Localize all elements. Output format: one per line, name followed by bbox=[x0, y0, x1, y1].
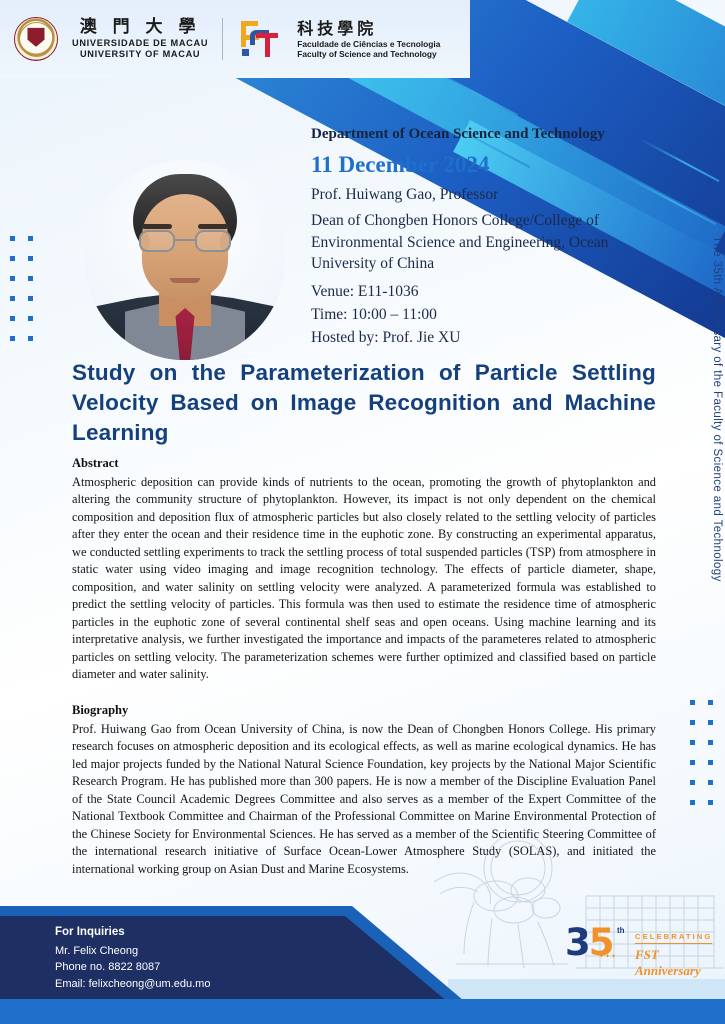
fst-monogram-icon bbox=[237, 18, 283, 60]
event-host: Hosted by: Prof. Jie XU bbox=[311, 327, 661, 348]
university-crest-icon bbox=[14, 17, 58, 61]
anniv-ordinal-suffix: th bbox=[617, 926, 625, 935]
anniversary-logo: 35 th ✦✦✦ CELEBRATING FST Anniversary bbox=[565, 926, 713, 968]
fst-name-portuguese: Faculdade de Ciências e Tecnologia bbox=[297, 39, 440, 50]
department-name: Department of Ocean Science and Technolo… bbox=[311, 126, 661, 143]
faculty-logo: 科技學院 Faculdade de Ciências e Tecnologia … bbox=[297, 19, 440, 60]
speaker-name: Prof. Huiwang Gao, Professor bbox=[311, 184, 661, 205]
event-venue: Venue: E11-1036 bbox=[311, 281, 661, 302]
speaker-portrait bbox=[85, 160, 285, 360]
um-name-chinese: 澳 門 大 學 bbox=[72, 18, 208, 38]
logo-divider bbox=[222, 18, 223, 60]
biography-text: Prof. Huiwang Gao from Ocean University … bbox=[72, 721, 656, 878]
talk-title: Study on the Parameterization of Particl… bbox=[72, 358, 656, 448]
decorative-dots-left bbox=[10, 236, 46, 341]
biography-heading: Biography bbox=[72, 703, 656, 718]
fst-name-chinese: 科技學院 bbox=[297, 19, 440, 39]
anniv-celebrating-label: CELEBRATING bbox=[635, 932, 712, 944]
university-of-macau-logo: 澳 門 大 學 UNIVERSIDADE DE MACAU UNIVERSITY… bbox=[72, 18, 208, 59]
event-time: Time: 10:00 – 11:00 bbox=[311, 304, 661, 325]
header-logos: 澳 門 大 學 UNIVERSIDADE DE MACAU UNIVERSITY… bbox=[0, 0, 470, 78]
biography-section: Biography Prof. Huiwang Gao from Ocean U… bbox=[72, 703, 656, 878]
abstract-text: Atmospheric deposition can provide kinds… bbox=[72, 474, 656, 684]
inquiries-email[interactable]: Email: felixcheong@um.edu.mo bbox=[55, 976, 210, 993]
inquiries-heading: For Inquiries bbox=[55, 924, 210, 941]
anniv-stars-icon: ✦✦✦ bbox=[599, 953, 617, 960]
um-name-portuguese: UNIVERSIDADE DE MACAU bbox=[72, 38, 208, 49]
footer-sky-band bbox=[448, 979, 725, 999]
anniv-fst-label: FST Anniversary bbox=[635, 947, 713, 979]
inquiries-block: For Inquiries Mr. Felix Cheong Phone no.… bbox=[55, 924, 210, 992]
speaker-affiliation: Dean of Chongben Honors College/College … bbox=[311, 210, 661, 274]
abstract-section: Abstract Atmospheric deposition can prov… bbox=[72, 456, 656, 684]
abstract-heading: Abstract bbox=[72, 456, 656, 471]
inquiries-contact: Mr. Felix Cheong bbox=[55, 943, 210, 960]
anniversary-side-text: The 35th Anniversary of the Faculty of S… bbox=[711, 236, 723, 582]
seminar-poster: 澳 門 大 學 UNIVERSIDADE DE MACAU UNIVERSITY… bbox=[0, 0, 725, 1024]
event-date: 11 December 2024 bbox=[311, 152, 661, 178]
seminar-info: Department of Ocean Science and Technolo… bbox=[311, 126, 661, 351]
footer-bottom-bar bbox=[0, 999, 725, 1024]
anniv-number-3: 3 bbox=[565, 921, 589, 964]
decorative-dots-right bbox=[690, 700, 725, 805]
inquiries-phone: Phone no. 8822 8087 bbox=[55, 959, 210, 976]
fst-name-english: Faculty of Science and Technology bbox=[297, 49, 440, 60]
um-name-english: UNIVERSITY OF MACAU bbox=[72, 49, 208, 60]
